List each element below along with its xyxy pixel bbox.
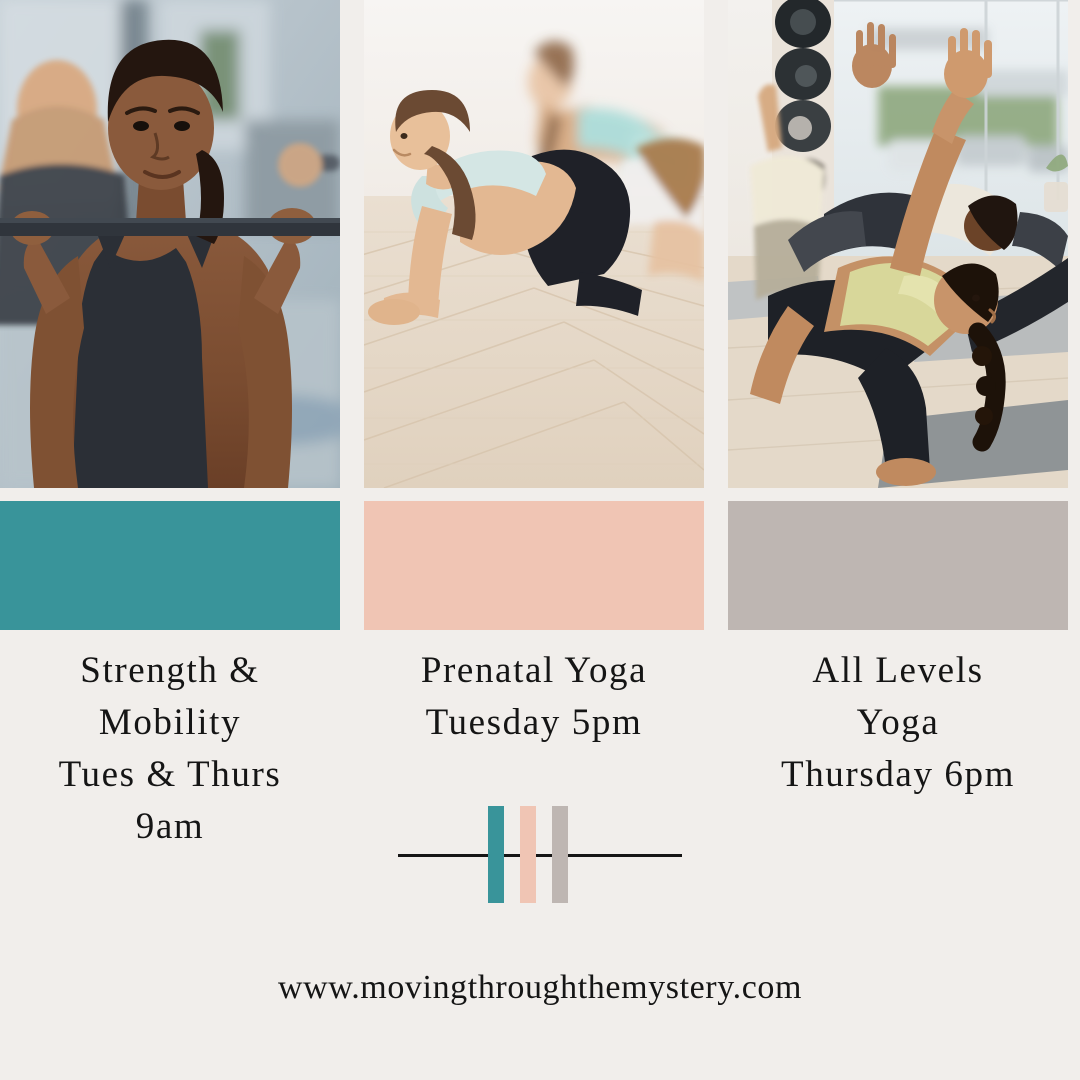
photo-strip — [0, 0, 1080, 488]
class-caption-strength: Strength & Mobility Tues & Thurs 9am — [0, 645, 340, 853]
caption-line: Thursday 6pm — [728, 749, 1068, 801]
class-caption-all-levels: All Levels Yoga Thursday 6pm — [728, 645, 1068, 853]
strength-training-photo — [0, 0, 340, 488]
color-band-teal — [0, 501, 340, 630]
color-band-gray — [728, 501, 1068, 630]
divider-rule — [398, 854, 682, 857]
divider-bar-teal — [488, 806, 504, 903]
caption-line: Tuesday 5pm — [364, 697, 704, 749]
decorative-divider — [370, 806, 690, 906]
caption-line: Yoga — [728, 697, 1068, 749]
class-schedule-poster: Strength & Mobility Tues & Thurs 9am Pre… — [0, 0, 1080, 1080]
all-levels-yoga-photo — [728, 0, 1068, 488]
caption-line: Tues & Thurs — [0, 749, 340, 801]
caption-line: All Levels — [728, 645, 1068, 697]
caption-line: Mobility — [0, 697, 340, 749]
divider-bar-blush — [520, 806, 536, 903]
color-band-strip — [0, 501, 1080, 630]
website-url: www.movingthroughthemystery.com — [0, 966, 1080, 1010]
divider-bar-gray — [552, 806, 568, 903]
caption-line: 9am — [0, 801, 340, 853]
caption-line: Prenatal Yoga — [364, 645, 704, 697]
color-band-blush — [364, 501, 704, 630]
caption-line: Strength & — [0, 645, 340, 697]
prenatal-yoga-photo — [364, 0, 704, 488]
